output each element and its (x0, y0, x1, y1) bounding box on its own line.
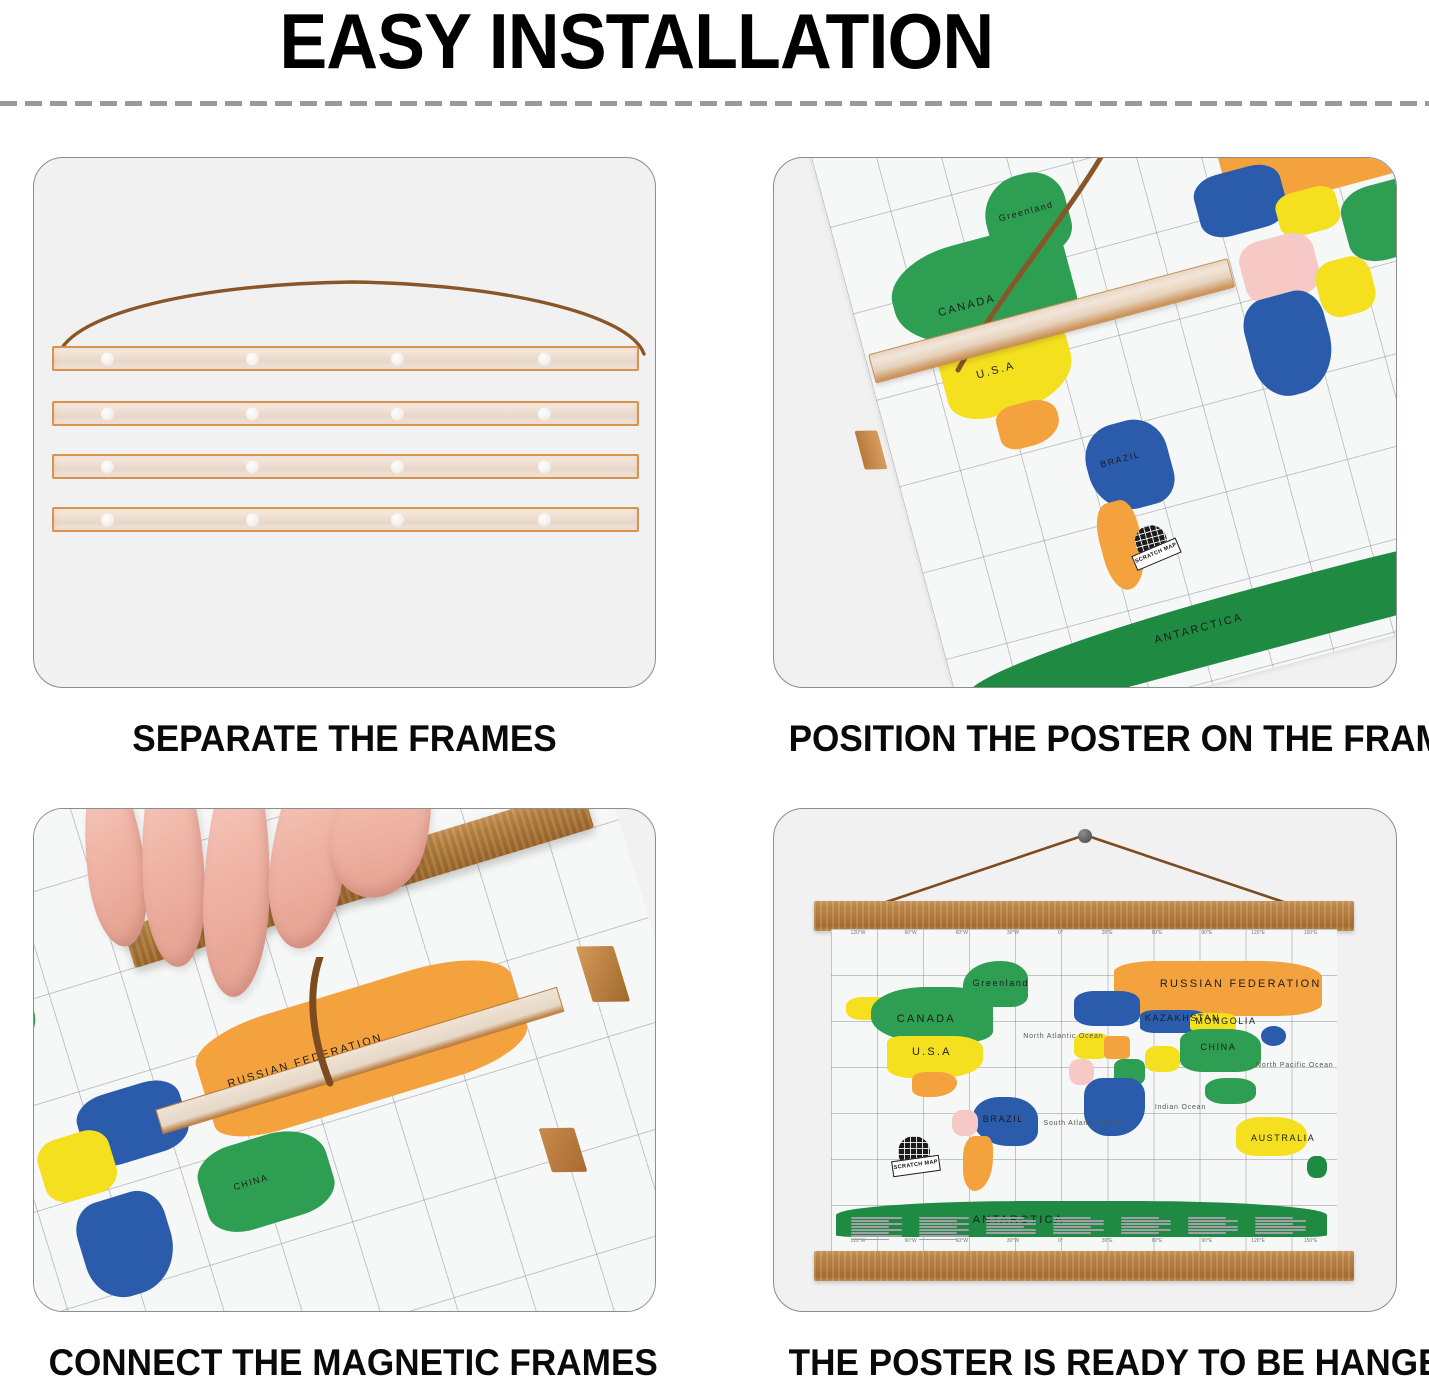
wooden-frame-bar-top[interactable] (814, 901, 1354, 931)
magnet-dot (538, 460, 551, 473)
frame-strip[interactable] (52, 507, 639, 532)
map-label-brazil: BRAZIL (983, 1114, 1024, 1124)
dashed-divider (0, 101, 1429, 106)
leather-cord (290, 957, 360, 1087)
nail-icon (1078, 829, 1092, 843)
legend-column (919, 1217, 980, 1251)
step-2-caption: POSITION THE POSTER ON THE FRAME (789, 718, 1382, 760)
magnet-dot (246, 407, 259, 420)
magnet-dot (391, 460, 404, 473)
landmass-japan (1261, 1026, 1286, 1045)
legend-column (1121, 1217, 1182, 1251)
landmass-libya (1104, 1036, 1129, 1059)
magnet-dot (391, 352, 404, 365)
magnet-dot (538, 513, 551, 526)
magnet-dot (101, 513, 114, 526)
map-label-greenland: Greenland (973, 978, 1029, 988)
map-label-china: CHINA (1200, 1042, 1236, 1052)
magnet-dot (538, 352, 551, 365)
magnet-dot (101, 407, 114, 420)
legend-column (851, 1217, 912, 1251)
step-2: CANADA U.S.A Greenland RUSSIAN FEDERATIO… (773, 157, 1397, 765)
map-label-north-pacific-ocean: North Pacific Ocean (1256, 1062, 1333, 1069)
magnet-dot (246, 460, 259, 473)
frame-strip-with-cord[interactable] (52, 346, 639, 371)
magnet-dot (246, 352, 259, 365)
map-label-usa: U.S.A (912, 1046, 952, 1058)
magnet-dot (101, 352, 114, 365)
legend-column (1188, 1217, 1249, 1251)
installation-steps-grid: SEPARATE THE FRAMES (0, 157, 1429, 1388)
frame-strips-panel (33, 157, 656, 688)
map-label-mongolia: MONGOLIA (1195, 1016, 1256, 1026)
magnet-dot (246, 513, 259, 526)
landmass-africa-south (1084, 1078, 1145, 1136)
step-4-caption: THE POSTER IS READY TO BE HANGED UP (789, 1342, 1382, 1384)
legend-column (986, 1217, 1047, 1251)
position-poster-panel: CANADA U.S.A Greenland RUSSIAN FEDERATIO… (773, 157, 1397, 688)
scratch-map-poster[interactable]: 120°W90°W60°W30°W 0°30°E60°E90°E120°E150… (831, 929, 1337, 1253)
poster-legend (851, 1217, 1317, 1251)
magnetic-frames-panel: CANADA U.S.A Greenland RUSSIAN FEDERATIO… (33, 808, 656, 1312)
step-4: 120°W90°W60°W30°W 0°30°E60°E90°E120°E150… (773, 808, 1397, 1388)
map-label-russia: RUSSIAN FEDERATION (1160, 978, 1322, 990)
map-label-canada: CANADA (897, 1013, 956, 1025)
magnet-dot (101, 460, 114, 473)
frame-strip[interactable] (52, 454, 639, 479)
legend-column (1053, 1217, 1114, 1251)
wooden-frame-bar-end (854, 430, 887, 469)
magnet-dot (538, 407, 551, 420)
longitude-ticks-top: 120°W90°W60°W30°W 0°30°E60°E90°E120°E150… (831, 930, 1337, 936)
step-1-caption: SEPARATE THE FRAMES (49, 718, 641, 760)
step-3-caption: CONNECT THE MAGNETIC FRAMES (49, 1342, 641, 1384)
landmass-india (1145, 1046, 1180, 1072)
landmass-west-africa (1069, 1059, 1094, 1085)
landmass-europe (1074, 991, 1140, 1027)
map-label-indian-ocean: Indian Ocean (1155, 1104, 1206, 1111)
frame-strip[interactable] (52, 401, 639, 426)
map-label-south-atlantic-ocean: South Atlantic Ocean (1044, 1120, 1125, 1127)
page-title: EASY INSTALLATION (57, 0, 1372, 87)
step-1: SEPARATE THE FRAMES (33, 157, 656, 765)
wooden-frame-bar-bottom[interactable] (814, 1251, 1354, 1281)
scratch-map-logo: SCRATCH MAP (892, 1136, 938, 1182)
step-3: CANADA U.S.A Greenland RUSSIAN FEDERATIO… (33, 808, 656, 1388)
landmass-indonesia (1205, 1078, 1256, 1104)
hanged-poster-panel: 120°W90°W60°W30°W 0°30°E60°E90°E120°E150… (773, 808, 1397, 1312)
map-label-north-atlantic-ocean: North Atlantic Ocean (1023, 1033, 1103, 1040)
header: EASY INSTALLATION (0, 0, 1429, 95)
legend-column (1255, 1217, 1316, 1251)
landmass-peru (952, 1110, 977, 1136)
magnet-dot (391, 407, 404, 420)
map-label-australia: AUSTRALIA (1251, 1133, 1315, 1143)
landmass-new-zealand (1307, 1156, 1327, 1179)
magnet-dot (391, 513, 404, 526)
